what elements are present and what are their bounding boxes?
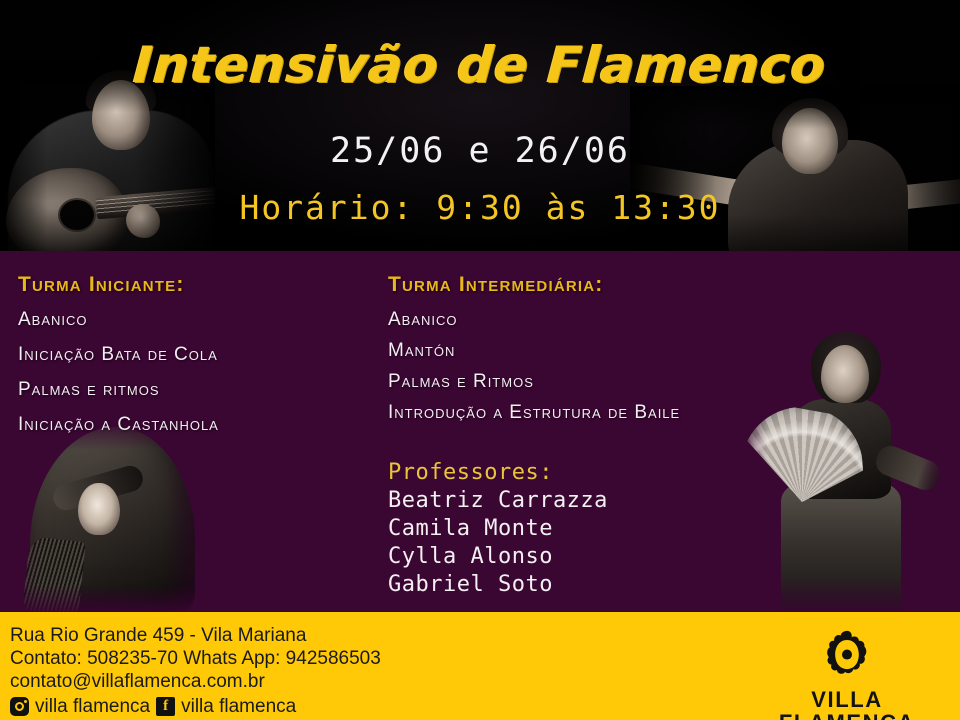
poster-body: Turma Iniciante: Abanico Iniciação Bata …	[0, 251, 960, 612]
villa-flamenca-logo: VILLA FLAMENCA NÚCLEO DE ARTE E CULTURA	[752, 630, 942, 720]
intermediate-class-column: Turma Intermediária: Abanico Mantón Palm…	[388, 273, 788, 433]
beginner-class-heading: Turma Iniciante:	[18, 273, 378, 297]
poster-title: Intensivão de Flamenco	[0, 36, 960, 94]
poster-header: Intensivão de Flamenco 25/06 e 26/06 Hor…	[0, 0, 960, 251]
beginner-class-column: Turma Iniciante: Abanico Iniciação Bata …	[18, 273, 378, 449]
facebook-icon[interactable]: f	[156, 697, 175, 716]
intermediate-class-heading: Turma Intermediária:	[388, 273, 788, 297]
course-item: Palmas e Ritmos	[388, 371, 788, 393]
course-item: Mantón	[388, 340, 788, 362]
instagram-handle[interactable]: villa flamenca	[35, 695, 150, 718]
course-item: Palmas e ritmos	[18, 379, 378, 401]
teacher-name: Camila Monte	[388, 516, 718, 541]
course-item: Iniciação a Castanhola	[18, 414, 378, 436]
course-item: Iniciação Bata de Cola	[18, 344, 378, 366]
poster-footer: Rua Rio Grande 459 - Vila Mariana Contat…	[0, 612, 960, 720]
social-links-row: villa flamenca f villa flamenca	[10, 695, 381, 718]
event-schedule: Horário: 9:30 às 13:30	[0, 188, 960, 227]
teachers-section: Professores: Beatriz Carrazza Camila Mon…	[388, 460, 718, 600]
course-item: Introdução a Estrutura de Baile	[388, 402, 788, 424]
facebook-handle[interactable]: villa flamenca	[181, 695, 296, 718]
event-dates: 25/06 e 26/06	[0, 131, 960, 171]
email-line[interactable]: contato@villaflamenca.com.br	[10, 670, 381, 693]
logo-name: VILLA FLAMENCA	[752, 688, 942, 720]
teacher-name: Gabriel Soto	[388, 572, 718, 597]
teacher-name: Beatriz Carrazza	[388, 488, 718, 513]
course-item: Abanico	[388, 309, 788, 331]
logo-center-dot	[842, 650, 852, 660]
address-line: Rua Rio Grande 459 - Vila Mariana	[10, 624, 381, 647]
logo-mark-icon	[824, 630, 870, 680]
contact-line: Contato: 508235-70 Whats App: 942586503	[10, 647, 381, 670]
contact-block: Rua Rio Grande 459 - Vila Mariana Contat…	[10, 624, 381, 718]
flamenco-workshop-poster: Intensivão de Flamenco 25/06 e 26/06 Hor…	[0, 0, 960, 720]
instagram-icon[interactable]	[10, 697, 29, 716]
course-item: Abanico	[18, 309, 378, 331]
teacher-name: Cylla Alonso	[388, 544, 718, 569]
teachers-heading: Professores:	[388, 460, 718, 485]
